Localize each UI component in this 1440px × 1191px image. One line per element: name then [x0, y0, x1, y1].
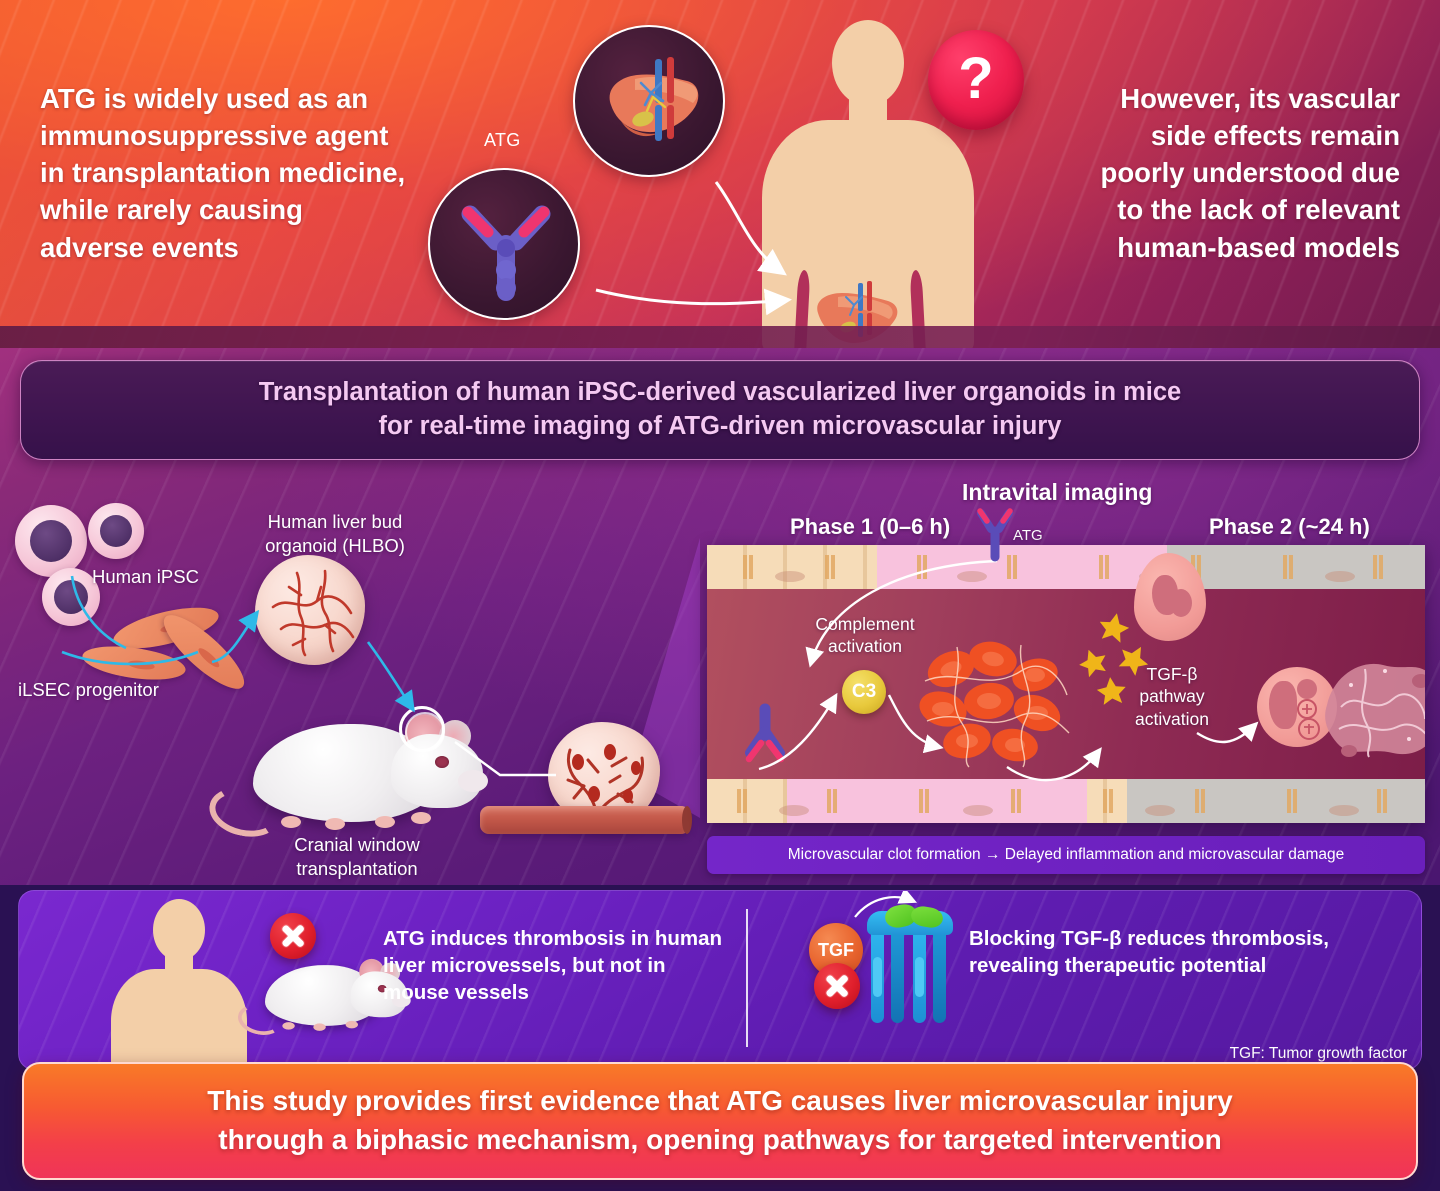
mouse-icon: [265, 949, 352, 1006]
tgf-footnote: TGF: Tumor growth factor: [1230, 1045, 1407, 1063]
red-x-icon: [270, 913, 316, 959]
stem-cell-icon: [88, 503, 144, 559]
findings-divider: [746, 909, 748, 1047]
liver-organ-icon: [573, 25, 725, 177]
study-title-line2: for real-time imaging of ATG-driven micr…: [259, 410, 1181, 444]
intravital-imaging-panel: Complement activation C3: [707, 545, 1425, 823]
ilsec-label: iLSEC progenitor: [18, 678, 159, 702]
tgfb-label-line1: TGF-β: [1112, 663, 1232, 685]
blood-vessel-icon: [480, 806, 690, 834]
red-x-icon: [814, 963, 860, 1009]
liver-organoid-icon: [255, 555, 365, 665]
conclusion-banner: This study provides first evidence that …: [22, 1062, 1418, 1180]
phase1-label: Phase 1 (0–6 h): [790, 513, 950, 541]
hlbo-label-line1: Human liver bud: [245, 510, 425, 534]
header-right-statement: However, its vascular side effects remai…: [1070, 80, 1400, 266]
cranial-window-label: Cranial window transplantation: [282, 833, 432, 880]
cranial-window-label-line1: Cranial window: [282, 833, 432, 857]
antibody-icon: [975, 505, 1015, 563]
imaging-caption-bar: Microvascular clot formation → Delayed i…: [707, 836, 1425, 874]
human-body-icon: [107, 899, 247, 1064]
study-title-line1: Transplantation of human iPSC-derived va…: [259, 376, 1181, 410]
atg-panel-label: ATG: [1013, 526, 1043, 545]
mouse-icon: [253, 698, 493, 838]
antibody-icon: [741, 697, 789, 767]
ipsc-label: Human iPSC: [92, 565, 199, 589]
hlbo-label: Human liver bud organoid (HLBO): [245, 510, 425, 557]
vessel-wall-bottom: [707, 779, 1425, 823]
question-mark-badge: ?: [928, 30, 1024, 130]
conclusion-line2: through a biphasic mechanism, opening pa…: [218, 1124, 1221, 1155]
platelet-icon: [1096, 610, 1131, 644]
tgfb-pathway-label: TGF-β pathway activation: [1112, 663, 1232, 730]
finding-left-text: ATG induces thrombosis in human liver mi…: [383, 925, 733, 1006]
conclusion-text: This study provides first evidence that …: [207, 1082, 1232, 1159]
hlbo-label-line2: organoid (HLBO): [245, 534, 425, 558]
tgfb-label-line3: activation: [1112, 708, 1232, 730]
vessel-wall-top: [707, 545, 1425, 589]
intravital-imaging-title: Intravital imaging: [962, 478, 1152, 507]
complement-label-line1: Complement: [785, 613, 945, 635]
cranial-window-label-line2: transplantation: [282, 857, 432, 881]
graphical-abstract: ATG is widely used as an immunosuppressi…: [0, 0, 1440, 1191]
c3-protein-icon: C3: [842, 670, 886, 714]
tgfb-label-line2: pathway: [1112, 685, 1232, 707]
study-title-banner: Transplantation of human iPSC-derived va…: [20, 360, 1420, 460]
platelet-icon: [1075, 645, 1110, 679]
finding-right-text: Blocking TGF-β reduces thrombosis, revea…: [969, 925, 1389, 979]
study-title-text: Transplantation of human iPSC-derived va…: [259, 376, 1181, 444]
cell-debris-icon: [1321, 647, 1425, 765]
header-base-band: [0, 326, 1440, 348]
conclusion-line1: This study provides first evidence that …: [207, 1085, 1232, 1116]
phase2-label: Phase 2 (~24 h): [1209, 513, 1370, 541]
atg-circle-label: ATG: [484, 130, 521, 151]
imaging-caption-text: Microvascular clot formation → Delayed i…: [788, 846, 1345, 864]
tgf-beta-receptor-icon: [867, 905, 953, 1023]
header-left-statement: ATG is widely used as an immunosuppressi…: [40, 80, 410, 266]
blood-clot-icon: [917, 637, 1075, 769]
findings-panel: ATG induces thrombosis in human liver mi…: [18, 890, 1422, 1070]
stem-cell-icon: [15, 505, 87, 577]
antibody-icon: [428, 168, 580, 320]
header-section: ATG is widely used as an immunosuppressi…: [0, 0, 1440, 348]
